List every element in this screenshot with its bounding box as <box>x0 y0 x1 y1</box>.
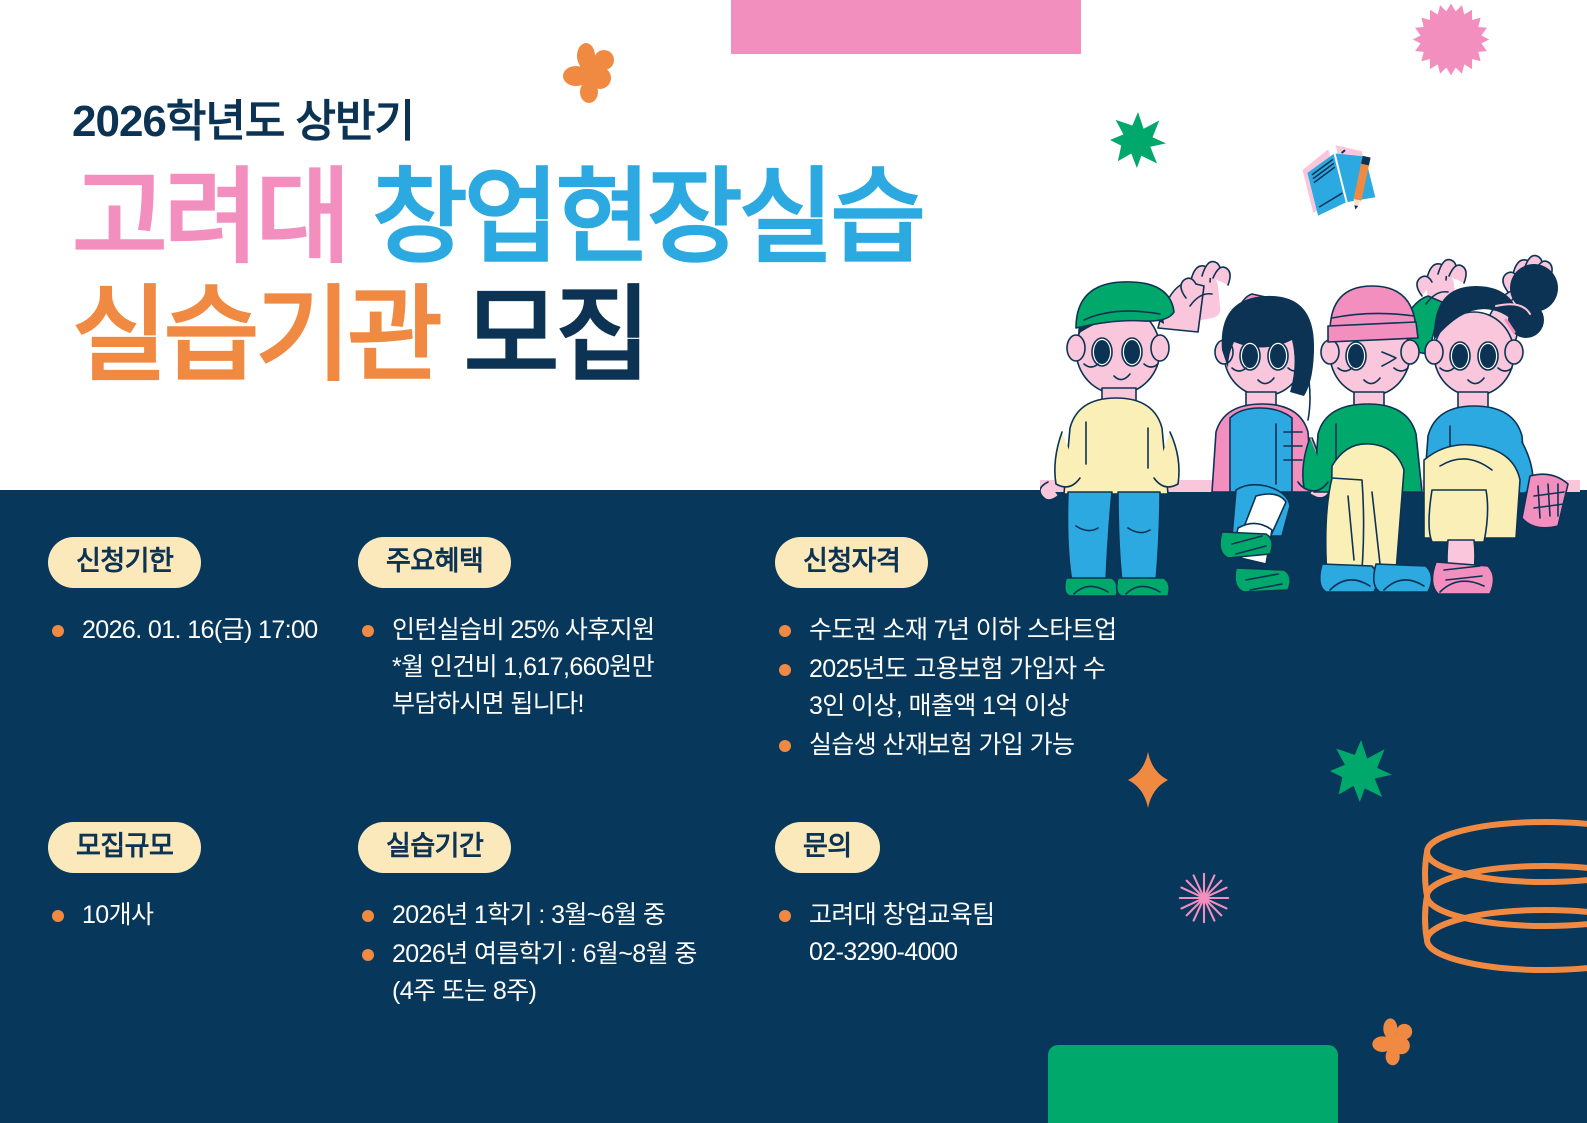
headline-word-training-institution: 실습기관 <box>72 278 439 394</box>
section-badge-eligibility: 신청자격 <box>775 537 928 588</box>
list-item: 고려대 창업교육팀 02-3290-4000 <box>775 897 1175 971</box>
list-item: 2026년 1학기 : 3월~6월 중 <box>358 897 768 934</box>
headline-word-korea-univ: 고려대 <box>72 160 347 276</box>
contact-phone: 02-3290-4000 <box>805 934 1175 971</box>
item-line: 2026. 01. 16(금) 17:00 <box>78 612 358 649</box>
section-benefit: 주요혜택 인턴실습비 25% 사후지원 *월 인건비 1,617,660원만 부… <box>358 537 758 725</box>
section-items-scale: 10개사 <box>48 897 348 934</box>
section-scale: 모집규모 10개사 <box>48 822 348 936</box>
item-line: 인턴실습비 25% 사후지원 <box>388 612 758 649</box>
item-line: 실습생 산재보험 가입 가능 <box>805 727 1205 764</box>
item-line: 10개사 <box>78 897 348 934</box>
section-items-period: 2026년 1학기 : 3월~6월 중 2026년 여름학기 : 6월~8월 중… <box>358 897 768 1010</box>
list-item: 2025년도 고용보험 가입자 수 3인 이상, 매출액 1억 이상 <box>775 651 1205 725</box>
item-line: 3인 이상, 매출액 1억 이상 <box>805 688 1205 725</box>
section-contact: 문의 고려대 창업교육팀 02-3290-4000 <box>775 822 1175 973</box>
headline-kicker: 2026학년도 상반기 <box>72 98 1082 146</box>
section-items-deadline: 2026. 01. 16(금) 17:00 <box>48 612 358 649</box>
list-item: 2026. 01. 16(금) 17:00 <box>48 612 358 649</box>
poster-root: 2026학년도 상반기 고려대 창업현장실습 실습기관 모집 <box>0 0 1587 1123</box>
section-badge-scale: 모집규모 <box>48 822 201 873</box>
item-line: 고려대 창업교육팀 <box>805 897 1175 934</box>
item-line: 수도권 소재 7년 이하 스타트업 <box>805 612 1205 649</box>
section-eligibility: 신청자격 수도권 소재 7년 이하 스타트업 2025년도 고용보험 가입자 수… <box>775 537 1205 766</box>
section-items-eligibility: 수도권 소재 7년 이하 스타트업 2025년도 고용보험 가입자 수 3인 이… <box>775 612 1205 764</box>
item-line: 부담하시면 됩니다! <box>388 686 758 723</box>
orange-flower-top-icon <box>560 40 624 104</box>
info-sections: 신청기한 2026. 01. 16(금) 17:00 주요혜택 인턴실습비 25… <box>0 490 1587 1123</box>
headline-line-2: 실습기관 모집 <box>72 278 1082 396</box>
list-item: 2026년 여름학기 : 6월~8월 중 (4주 또는 8주) <box>358 936 768 1010</box>
section-deadline: 신청기한 2026. 01. 16(금) 17:00 <box>48 537 358 651</box>
headline-group: 2026학년도 상반기 고려대 창업현장실습 실습기관 모집 <box>72 98 1082 395</box>
headline-word-recruit: 모집 <box>464 278 647 394</box>
item-line: *월 인건비 1,617,660원만 <box>388 649 758 686</box>
list-item: 실습생 산재보험 가입 가능 <box>775 727 1205 764</box>
pink-scallop-cloud-icon <box>731 0 1081 54</box>
section-badge-benefit: 주요혜택 <box>358 537 511 588</box>
green-star-burst-top-icon <box>1110 112 1166 168</box>
section-items-benefit: 인턴실습비 25% 사후지원 *월 인건비 1,617,660원만 부담하시면 … <box>358 612 758 723</box>
item-line: 2026년 여름학기 : 6월~8월 중 <box>388 936 768 973</box>
open-book-with-pencil-icon <box>1300 140 1390 218</box>
list-item: 인턴실습비 25% 사후지원 *월 인건비 1,617,660원만 부담하시면 … <box>358 612 758 723</box>
pink-starburst-badge-icon <box>1412 2 1490 80</box>
section-period: 실습기간 2026년 1학기 : 3월~6월 중 2026년 여름학기 : 6월… <box>358 822 768 1012</box>
item-line: 2026년 1학기 : 3월~6월 중 <box>388 897 768 934</box>
item-line: 2025년도 고용보험 가입자 수 <box>805 651 1205 688</box>
section-badge-period: 실습기간 <box>358 822 511 873</box>
headline-line-1: 고려대 창업현장실습 <box>72 160 1082 278</box>
section-items-contact: 고려대 창업교육팀 02-3290-4000 <box>775 897 1175 971</box>
list-item: 수도권 소재 7년 이하 스타트업 <box>775 612 1205 649</box>
section-badge-contact: 문의 <box>775 822 880 873</box>
section-badge-deadline: 신청기한 <box>48 537 201 588</box>
headline-word-startup-field-training: 창업현장실습 <box>372 160 922 276</box>
list-item: 10개사 <box>48 897 348 934</box>
item-line: (4주 또는 8주) <box>388 973 768 1010</box>
